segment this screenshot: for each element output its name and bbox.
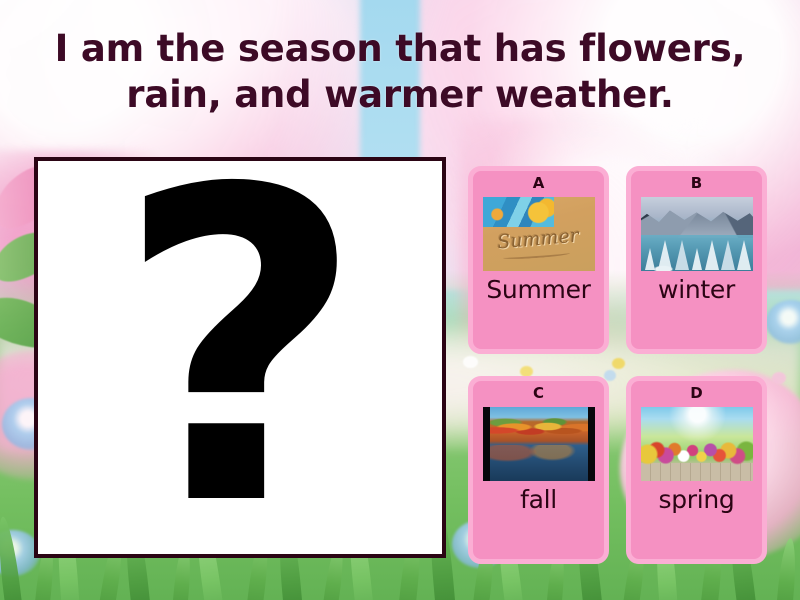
answer-label-c: fall xyxy=(520,487,557,513)
snow-tree-4 xyxy=(692,248,702,270)
answer-thumb-d xyxy=(641,407,753,481)
snow-tree-1 xyxy=(645,248,655,270)
sand-writing-underline xyxy=(503,251,570,261)
answer-thumb-a: Summer xyxy=(483,197,595,271)
answer-thumb-c xyxy=(483,407,595,481)
snow-tree-5 xyxy=(705,240,719,270)
answer-letter-a: A xyxy=(533,176,545,191)
answer-label-a: Summer xyxy=(486,277,590,303)
answer-label-d: spring xyxy=(658,487,734,513)
answer-label-b: winter xyxy=(658,277,735,303)
answer-options-grid: A Summer Summer B winter C xyxy=(468,166,788,564)
snow-tree-7 xyxy=(737,240,751,270)
snow-tree-2 xyxy=(658,240,672,270)
answer-letter-d: D xyxy=(690,386,702,401)
answer-card-a[interactable]: A Summer Summer xyxy=(468,166,609,354)
sand-writing-text: Summer xyxy=(491,224,587,254)
answer-letter-b: B xyxy=(691,176,702,191)
letterbox-bar-left xyxy=(483,407,490,481)
answer-thumb-b xyxy=(641,197,753,271)
answer-letter-c: C xyxy=(533,386,544,401)
letterbox-bar-right xyxy=(588,407,595,481)
spring-flower-bed xyxy=(641,435,753,466)
snow-tree-3 xyxy=(675,240,689,270)
snow-tree-6 xyxy=(721,240,735,270)
answer-card-b[interactable]: B winter xyxy=(626,166,767,354)
question-image-panel: ? xyxy=(34,157,446,558)
answer-card-c[interactable]: C fall xyxy=(468,376,609,564)
quiz-scene: I am the season that has flowers, rain, … xyxy=(0,0,800,600)
answer-card-d[interactable]: D spring xyxy=(626,376,767,564)
question-mark-icon: ? xyxy=(115,183,364,518)
